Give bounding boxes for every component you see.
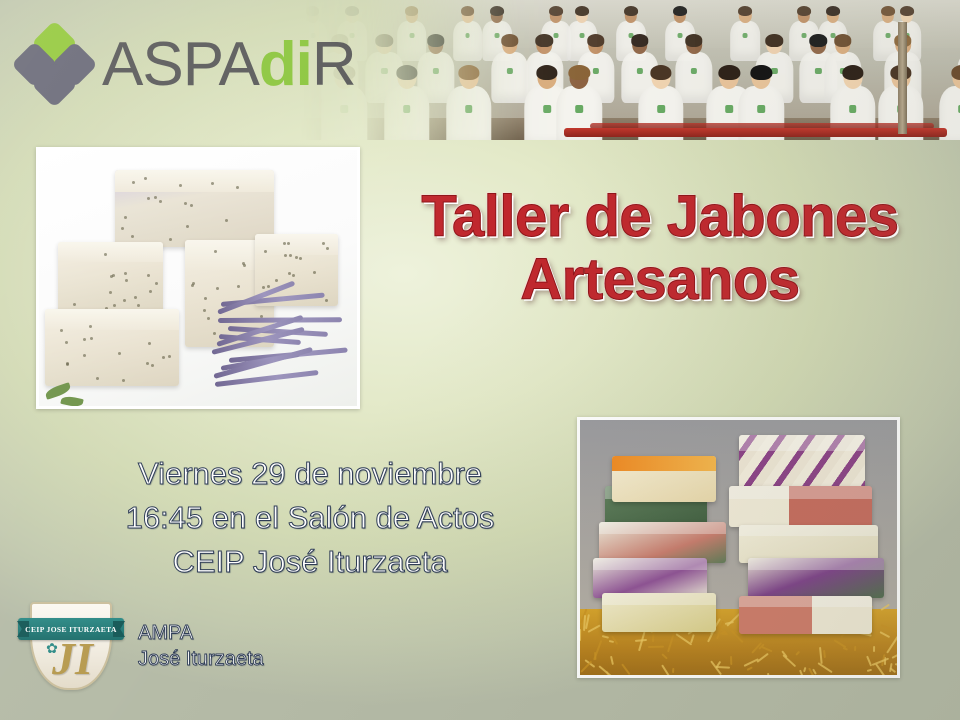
soap-herb-speck — [225, 219, 228, 222]
soap-herb-speck — [147, 274, 150, 277]
soap-bar-bottom — [45, 309, 179, 386]
crowd-figures — [300, 0, 960, 140]
soap-herb-speck — [299, 257, 302, 260]
soap-herb-speck — [292, 274, 295, 277]
csoap-swirl — [739, 435, 866, 489]
soap-herb-speck — [169, 238, 172, 241]
crest-ribbon-text: CEIP JOSE ITURZAETA — [25, 625, 117, 634]
crowd-photo — [300, 0, 960, 140]
soap-herb-speck — [179, 184, 182, 187]
soap-herb-speck — [134, 296, 137, 299]
soap-herb-speck — [190, 204, 193, 207]
soap-bar-left — [58, 242, 163, 314]
soap-herb-speck — [113, 304, 116, 307]
soap-bar-face — [255, 234, 338, 254]
soap-bar-face — [58, 242, 163, 262]
soap-bar-face — [115, 170, 274, 192]
soap-herb-speck — [191, 284, 194, 287]
aspadir-diamond-icon — [18, 28, 92, 102]
lavender-soap-photo-inner — [39, 150, 357, 406]
soap-herb-speck — [122, 379, 125, 382]
crowd-photo-rail — [564, 128, 947, 137]
soap-herb-speck — [159, 200, 162, 203]
soap-herb-speck — [124, 216, 127, 219]
crowd-person — [382, 67, 431, 140]
soap-herb-speck — [148, 342, 151, 345]
csoap-edge — [739, 596, 872, 607]
shirt-logo-icon — [543, 105, 551, 113]
shirt-logo-icon — [576, 105, 584, 113]
crowd-person — [444, 67, 493, 140]
soap-herb-speck — [216, 287, 219, 290]
soap-herb-speck — [104, 253, 107, 256]
event-venue: CEIP José Iturzaeta — [60, 540, 560, 584]
csoap-red — [729, 486, 872, 527]
crowd-person-hair — [575, 6, 589, 16]
csoap-purple — [593, 558, 707, 599]
soap-herb-speck — [96, 377, 99, 380]
crest-ribbon: CEIP JOSE ITURZAETA — [18, 618, 124, 640]
lavender-soap-photo — [36, 147, 360, 409]
poster-slide: ASPAdiR Taller de Jabones Artesanos Vier… — [0, 0, 960, 720]
csoap-edge — [739, 435, 866, 451]
crowd-person-hair — [396, 65, 417, 80]
soap-herb-speck — [60, 329, 63, 332]
soap-herb-speck — [236, 186, 239, 189]
soap-herb-speck — [66, 362, 69, 365]
crowd-photo-pole — [898, 22, 907, 134]
shirt-logo-icon — [341, 105, 349, 113]
soap-herb-speck — [109, 291, 112, 294]
aspadir-word-part1: ASPA — [102, 30, 259, 99]
soap-herb-speck — [121, 227, 124, 230]
csoap-edge — [739, 525, 878, 536]
soap-herb-speck — [162, 356, 165, 359]
soap-herb-speck — [123, 299, 126, 302]
crowd-person — [451, 8, 483, 61]
poster-title: Taller de Jabones Artesanos — [370, 186, 950, 311]
csoap-violet — [748, 558, 884, 599]
event-time-place: 16:45 en el Salón de Actos — [60, 496, 560, 540]
soap-herb-speck — [73, 303, 76, 306]
poster-title-line2: Artesanos — [370, 249, 950, 312]
soap-herb-speck — [151, 364, 154, 367]
marigold-strand — [730, 656, 732, 665]
colorful-soap-photo-inner — [580, 420, 897, 675]
soap-herb-speck — [146, 362, 149, 365]
shirt-logo-icon — [815, 68, 821, 74]
aspadir-word-part2: di — [259, 30, 312, 99]
soap-herb-speck — [110, 275, 113, 278]
crowd-person-hair — [569, 65, 590, 80]
csoap-edge — [748, 558, 884, 570]
crowd-person-hair — [461, 6, 475, 16]
soap-herb-speck — [65, 341, 68, 344]
soap-herb-speck — [186, 225, 189, 228]
soap-herb-speck — [283, 242, 286, 245]
shirt-logo-icon — [743, 33, 748, 38]
soap-herb-speck — [313, 271, 316, 274]
crowd-person-hair — [306, 6, 320, 16]
crowd-person-shirt — [384, 86, 429, 140]
csoap-pink — [599, 522, 726, 563]
marigold-strand — [873, 645, 875, 651]
crowd-person-shirt — [453, 21, 483, 61]
soap-herb-speck — [124, 272, 127, 275]
lavender-sprigs — [211, 293, 345, 401]
csoap-rose — [739, 596, 872, 634]
ampa-block: JI ✿ CEIP JOSE ITURZAETA AMPA José Iturz… — [18, 596, 264, 696]
soap-herb-speck — [83, 354, 86, 357]
soap-herb-speck — [237, 285, 240, 288]
event-date: Viernes 29 de noviembre — [60, 452, 560, 496]
shirt-logo-icon — [403, 105, 411, 113]
aspadir-wordmark: ASPAdiR — [102, 34, 356, 96]
crowd-person-hair — [797, 6, 811, 16]
soap-herb-speck — [137, 304, 140, 307]
soap-herb-speck — [168, 355, 171, 358]
flower-icon: ✿ — [44, 640, 60, 656]
soap-herb-speck — [83, 338, 86, 341]
csoap-edge — [602, 593, 716, 604]
soap-herb-speck — [295, 256, 298, 259]
soap-herb-speck — [288, 272, 291, 275]
crowd-person-hair — [751, 65, 772, 80]
crowd-person-hair — [490, 6, 504, 16]
crowd-person-hair — [738, 6, 752, 16]
soap-herb-speck — [154, 196, 157, 199]
shirt-logo-icon — [432, 68, 438, 74]
soap-herb-speck — [275, 279, 278, 282]
crowd-person-hair — [345, 6, 359, 16]
crowd-person-hair — [405, 6, 419, 16]
crowd-person-shirt — [446, 86, 491, 140]
shirt-logo-icon — [465, 105, 473, 113]
aspadir-logo[interactable]: ASPAdiR — [18, 28, 356, 102]
marigold-strand — [580, 628, 581, 640]
csoap-edge — [593, 558, 707, 570]
soap-herb-speck — [203, 309, 206, 312]
event-details: Viernes 29 de noviembre 16:45 en el Saló… — [60, 452, 560, 584]
soap-herb-speck — [204, 297, 207, 300]
marigold-strand — [594, 652, 597, 660]
soap-herb-speck — [326, 247, 329, 250]
csoap-edge — [612, 456, 717, 472]
ampa-line1: AMPA — [138, 620, 264, 646]
shirt-logo-icon — [465, 33, 470, 38]
soap-herb-speck — [262, 286, 265, 289]
shirt-logo-icon — [849, 105, 857, 113]
crowd-person-hair — [900, 6, 914, 16]
crowd-person-hair — [458, 65, 479, 80]
soap-herb-speck — [155, 282, 158, 285]
shirt-logo-icon — [691, 68, 697, 74]
soap-bar-top — [115, 170, 274, 247]
crowd-person-hair — [673, 6, 687, 16]
shirt-logo-icon — [726, 105, 734, 113]
crowd-person-hair — [842, 65, 863, 80]
crowd-person-hair — [624, 6, 638, 16]
soap-herb-speck — [207, 317, 210, 320]
shirt-logo-icon — [507, 68, 513, 74]
crowd-person-hair — [952, 65, 960, 80]
crowd-person-hair — [549, 6, 563, 16]
soap-herb-speck — [149, 290, 152, 293]
soap-herb-speck — [267, 285, 270, 288]
csoap-yellow — [602, 593, 716, 631]
soap-herb-speck — [90, 337, 93, 340]
soap-bar-face — [45, 309, 179, 331]
shirt-logo-icon — [409, 33, 414, 38]
soap-herb-speck — [284, 254, 287, 257]
shirt-logo-icon — [657, 105, 665, 113]
soap-herb-speck — [125, 279, 128, 282]
csoap-edge — [729, 486, 872, 498]
soap-herb-speck — [144, 177, 147, 180]
aspadir-word-part3: R — [312, 30, 356, 99]
ampa-label: AMPA José Iturzaeta — [138, 620, 264, 672]
crowd-person-hair — [826, 6, 840, 16]
school-crest-icon: JI ✿ CEIP JOSE ITURZAETA — [18, 596, 124, 696]
soap-herb-speck — [289, 254, 292, 257]
crowd-person-hair — [650, 65, 671, 80]
csoap-orange — [612, 456, 717, 502]
soap-herb-speck — [184, 202, 187, 205]
ampa-line2: José Iturzaeta — [138, 646, 264, 672]
colorful-soap-photo — [577, 417, 900, 678]
soap-herb-speck — [118, 352, 121, 355]
soap-herb-speck — [147, 197, 150, 200]
shirt-logo-icon — [758, 105, 766, 113]
csoap-edge — [599, 522, 726, 534]
poster-title-line1: Taller de Jabones — [421, 184, 898, 249]
soap-herb-speck — [131, 235, 134, 238]
soap-herb-speck — [214, 250, 217, 253]
